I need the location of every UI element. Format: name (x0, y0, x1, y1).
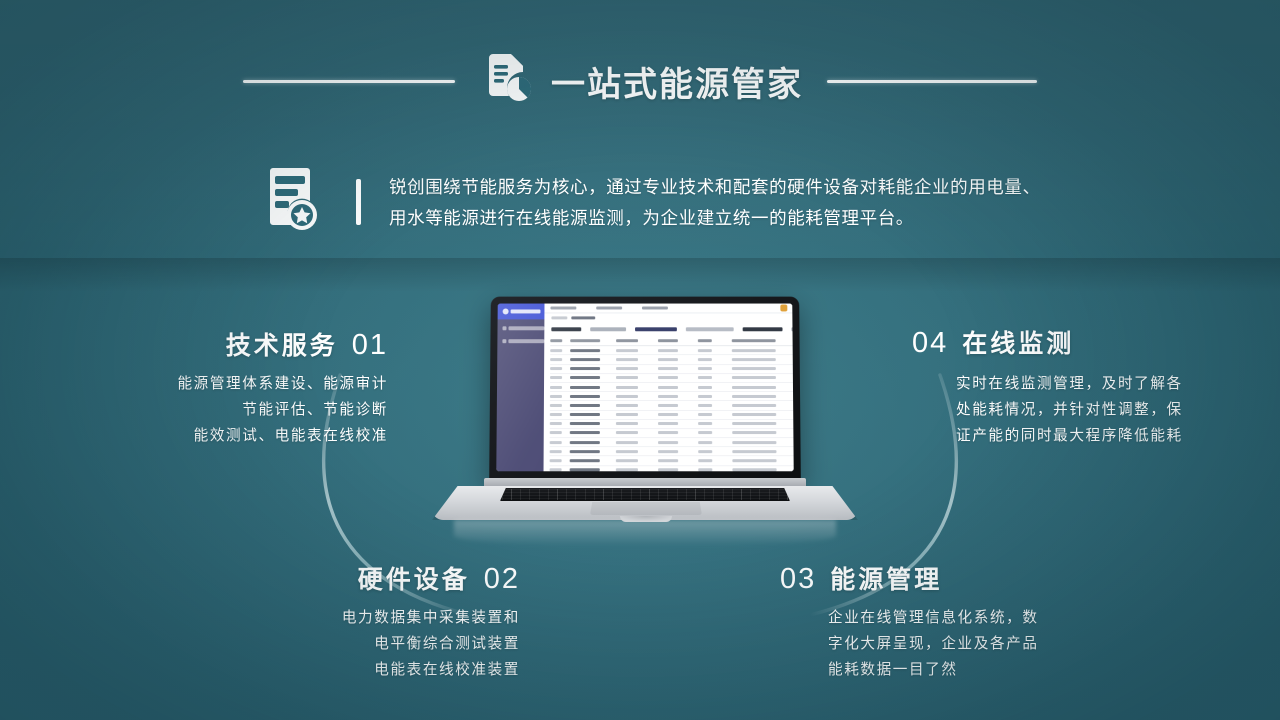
feature-lines: 能源管理体系建设、能源审计 节能评估、节能诊断 能效测试、电能表在线校准 (18, 372, 388, 445)
topbar-menu-item[interactable] (596, 306, 622, 310)
feature-line: 证产能的同时最大程序降低能耗 (956, 424, 1183, 445)
document-pie-chart-icon (479, 51, 535, 112)
table-header-row (550, 336, 793, 346)
logo-text (511, 309, 541, 313)
feature-number: 02 (484, 563, 520, 596)
nav-icon (502, 339, 506, 343)
laptop-trackpad (590, 502, 702, 515)
nav-label (508, 340, 544, 343)
dashboard-sidebar (496, 304, 544, 472)
table-row[interactable] (550, 457, 794, 466)
dashboard-logo (498, 304, 545, 320)
table-row[interactable] (550, 374, 794, 383)
feature-title: 硬件设备 (358, 560, 470, 596)
table-row[interactable] (550, 383, 794, 392)
table-row[interactable] (550, 420, 794, 429)
nav-label (508, 327, 544, 330)
dashboard-mock (496, 304, 793, 472)
feature-block-04: 04 在线监测 实时在线监测管理，及时了解各 处能耗情况，并针对性调整，保 证产… (912, 324, 1272, 445)
document-star-icon (262, 165, 328, 240)
filter-value[interactable] (791, 328, 793, 332)
feature-number: 04 (912, 327, 948, 360)
column-header (550, 339, 562, 342)
table-row[interactable] (550, 410, 794, 419)
description-block: 锐创围绕节能服务为核心，通过专业技术和配套的硬件设备对耗能企业的用电量、 用水等… (262, 160, 1222, 244)
breadcrumb-current (571, 316, 595, 319)
breadcrumb-parent[interactable] (551, 316, 567, 319)
edit-pencil-icon[interactable] (780, 305, 787, 312)
feature-title: 技术服务 (226, 326, 338, 362)
table-row[interactable] (550, 392, 794, 401)
description-line-1: 锐创围绕节能服务为核心，通过专业技术和配套的硬件设备对耗能企业的用电量、 (389, 174, 1041, 199)
logo-mark-icon (503, 308, 509, 314)
feature-lines: 电力数据集中采集装置和 电平衡综合测试装置 电能表在线校准装置 (150, 606, 520, 679)
laptop-screen (496, 304, 793, 472)
slide-header: 一站式能源管家 (0, 52, 1280, 110)
table-row[interactable] (550, 438, 794, 447)
dashboard-main (544, 304, 794, 472)
table-row[interactable] (550, 355, 794, 364)
filter-value[interactable] (686, 328, 734, 332)
feature-heading: 03 能源管理 (780, 560, 1150, 596)
table-row[interactable] (550, 466, 794, 471)
table-row[interactable] (550, 447, 794, 456)
dashboard-nav (497, 319, 544, 343)
feature-line: 电平衡综合测试装置 (374, 632, 520, 653)
table-row[interactable] (550, 365, 794, 374)
top-band-shadow (0, 258, 1280, 292)
feature-heading: 04 在线监测 (912, 324, 1272, 360)
laptop-keyboard (500, 488, 790, 501)
feature-block-01: 技术服务 01 能源管理体系建设、能源审计 节能评估、节能诊断 能效测试、电能表… (18, 326, 388, 445)
topbar-menu-item[interactable] (642, 306, 668, 310)
column-header (732, 339, 776, 342)
feature-lines: 实时在线监测管理，及时了解各 处能耗情况，并针对性调整，保 证产能的同时最大程序… (912, 372, 1272, 445)
feature-line: 电力数据集中采集装置和 (342, 606, 520, 627)
feature-line: 能效测试、电能表在线校准 (194, 424, 388, 445)
slide-canvas: 一站式能源管家 锐创围绕节能服务为核心，通过专业技术和配套的硬件设备对耗能企业的… (0, 0, 1280, 720)
laptop-lid (489, 297, 801, 483)
feature-title: 能源管理 (830, 560, 942, 596)
column-header (570, 339, 600, 342)
feature-line: 实时在线监测管理，及时了解各 (956, 372, 1183, 393)
filter-label (551, 328, 581, 332)
dashboard-topbar (544, 304, 793, 314)
description-text: 锐创围绕节能服务为核心，通过专业技术和配套的硬件设备对耗能企业的用电量、 用水等… (389, 174, 1041, 230)
feature-line: 处能耗情况，并针对性调整，保 (956, 398, 1183, 419)
feature-line: 电能表在线校准装置 (374, 658, 520, 679)
topbar-menu-item[interactable] (550, 306, 576, 310)
dashboard-content (543, 313, 793, 471)
feature-line: 节能评估、节能诊断 (242, 398, 388, 419)
feature-heading: 技术服务 01 (18, 326, 388, 362)
sidebar-item[interactable] (502, 326, 544, 330)
column-header (658, 339, 678, 342)
data-table (543, 336, 793, 471)
feature-heading: 硬件设备 02 (150, 560, 520, 596)
filter-value[interactable] (590, 328, 626, 332)
dashboard-body (543, 313, 793, 471)
filter-bar (544, 322, 793, 336)
nav-icon (502, 326, 506, 330)
laptop-reflection (454, 520, 836, 546)
header-rule-right (827, 80, 1037, 83)
table-row[interactable] (550, 346, 794, 355)
feature-line: 字化大屏呈现，企业及各产品 (828, 632, 1039, 653)
feature-number: 03 (780, 563, 816, 596)
feature-line: 企业在线管理信息化系统，数 (828, 606, 1039, 627)
table-row[interactable] (550, 401, 794, 410)
feature-number: 01 (352, 329, 388, 362)
feature-line: 能源管理体系建设、能源审计 (177, 372, 388, 393)
table-row[interactable] (550, 429, 794, 438)
column-header (698, 339, 712, 342)
laptop-mockup (424, 296, 866, 528)
feature-block-02: 硬件设备 02 电力数据集中采集装置和 电平衡综合测试装置 电能表在线校准装置 (150, 560, 520, 679)
feature-lines: 企业在线管理信息化系统，数 字化大屏呈现，企业及各产品 能耗数据一目了然 (780, 606, 1150, 679)
feature-block-03: 03 能源管理 企业在线管理信息化系统，数 字化大屏呈现，企业及各产品 能耗数据… (780, 560, 1150, 679)
feature-line: 能耗数据一目了然 (828, 658, 958, 679)
filter-label (635, 328, 677, 332)
feature-title: 在线监测 (962, 324, 1074, 360)
header-rule-left (243, 80, 455, 83)
filter-label (743, 328, 783, 332)
description-divider-bar (356, 179, 361, 225)
breadcrumb (544, 313, 793, 322)
sidebar-item[interactable] (502, 339, 544, 343)
title-group: 一站式能源管家 (479, 51, 803, 112)
description-line-2: 用水等能源进行在线能源监测，为企业建立统一的能耗管理平台。 (389, 205, 1041, 230)
column-header (616, 339, 638, 342)
page-title: 一站式能源管家 (551, 57, 803, 106)
